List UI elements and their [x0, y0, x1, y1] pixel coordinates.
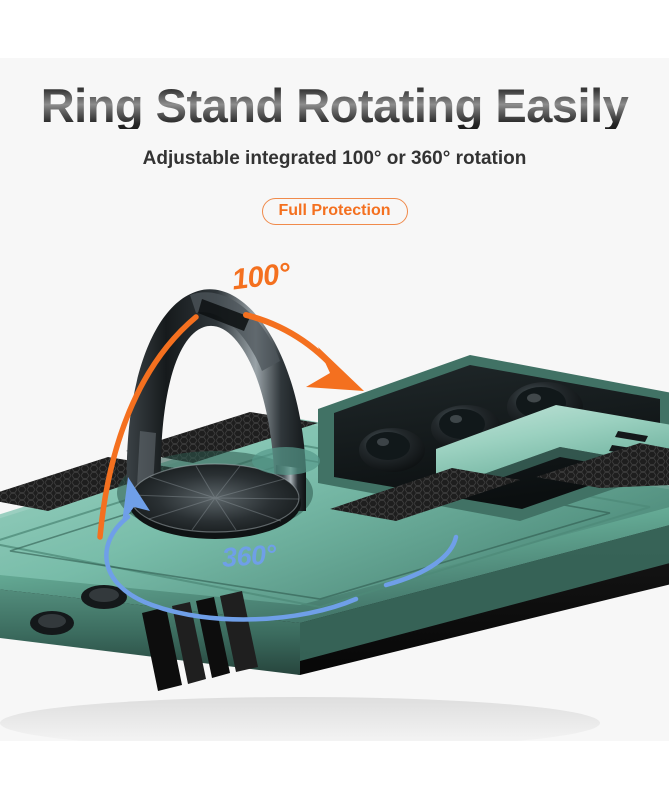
page-title: Ring Stand Rotating Easily — [0, 82, 669, 129]
product-marketing-image: Ring Stand Rotating Easily Adjustable in… — [0, 0, 669, 801]
camera-lens-2-glint — [450, 415, 462, 423]
page-subtitle: Adjustable integrated 100° or 360° rotat… — [0, 148, 669, 170]
volume-button-up-face — [89, 588, 119, 602]
ring-pivot-cutout — [252, 447, 320, 475]
top-white-strip — [0, 0, 669, 58]
rotation-annotation-label: 360° — [221, 539, 277, 574]
status-badge: Full Protection — [262, 198, 408, 225]
volume-button-down-face — [38, 614, 66, 628]
camera-lens-1-inner — [366, 432, 410, 460]
camera-lens-1-glint — [377, 438, 389, 446]
tilt-arrowhead — [306, 347, 364, 391]
product-illustration — [0, 255, 669, 755]
bottom-white-strip — [0, 741, 669, 801]
camera-lens-3-glint — [527, 394, 541, 403]
tilt-annotation-label: 100° — [230, 258, 292, 298]
